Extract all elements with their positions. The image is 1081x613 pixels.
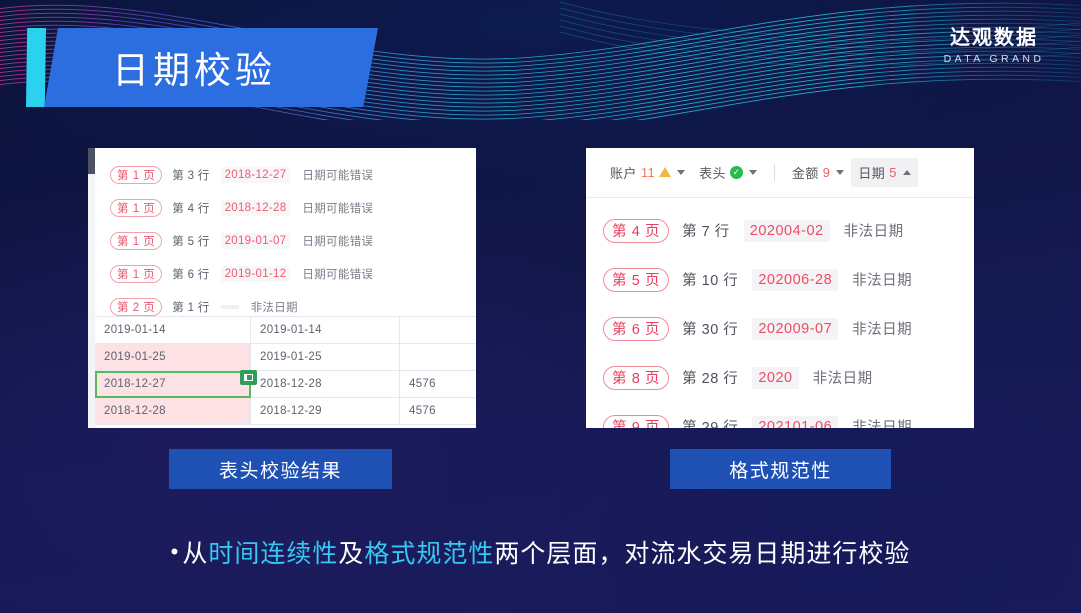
list-item[interactable]: 第 1 页 第 5 行 2019-01-07 日期可能错误 [95,224,476,257]
table-cell-date-b[interactable]: 2018-12-29 [251,398,400,425]
row-line-label: 第 7 行 [682,220,730,241]
tab-account-count: 11 [641,165,655,180]
brand-logo: 达观数据 DATA GRAND [929,27,1059,65]
row-date-value: 202101-06 [752,416,838,429]
page-badge: 第 1 页 [110,232,162,250]
paste-options-icon[interactable] [240,370,257,385]
row-message: 非法日期 [844,220,904,241]
scrollbar-thumb[interactable] [88,148,95,174]
page-title: 日期校验 [112,39,276,93]
row-line-label: 第 6 行 [172,266,209,282]
table-cell-date-a[interactable]: 2019-01-14 [95,317,251,344]
row-date-value: 202004-02 [744,220,830,242]
row-message: 非法日期 [813,367,873,388]
tab-date-label: 日期 [858,163,885,182]
table-row[interactable]: 2018-12-27 2018-12-28 4576 [95,371,476,398]
row-line-label: 第 28 行 [682,367,738,388]
tab-header-label: 表头 [699,163,726,182]
chevron-down-icon[interactable] [677,170,685,175]
table-cell-date-a[interactable]: 2019-01-25 [95,344,251,371]
table-cell-amount[interactable]: 4576 [400,398,477,425]
table-row[interactable]: 2018-12-28 2018-12-29 4576 [95,398,476,425]
table-cell-amount[interactable] [400,344,477,371]
row-date-value: 2019-01-07 [221,233,291,249]
row-date-value: 2019-01-12 [221,266,291,282]
tab-amount[interactable]: 金额 9 [785,158,851,187]
page-badge: 第 1 页 [110,265,162,283]
row-message: 非法日期 [251,299,298,315]
tab-amount-label: 金额 [792,163,819,182]
bullet-highlight-2: 格式规范性 [364,540,494,568]
row-message: 非法日期 [852,318,912,339]
logo-en-text: DATA GRAND [929,53,1059,65]
bullet-seg3: 两个层面，对流水交易日期进行校验 [494,540,910,568]
list-item[interactable]: 第 1 页 第 4 行 2018-12-28 日期可能错误 [95,191,476,224]
row-line-label: 第 30 行 [682,318,738,339]
list-item[interactable]: 第 8 页 第 28 行 2020 非法日期 [586,353,974,402]
bullet-highlight-1: 时间连续性 [208,540,338,568]
caption-right: 格式规范性 [670,449,891,489]
list-item[interactable]: 第 1 页 第 6 行 2019-01-12 日期可能错误 [95,257,476,290]
page-badge: 第 2 页 [110,298,162,316]
table-row[interactable]: 2019-01-14 2019-01-14 [95,317,476,344]
page-badge: 第 9 页 [603,415,669,429]
page-badge: 第 4 页 [603,219,669,243]
row-date-value: 2018-12-28 [221,200,291,216]
row-date-value: 2020 [752,367,798,389]
slide-root: 日期校验 达观数据 DATA GRAND 第 1 页 第 3 行 2018-12… [0,0,1081,613]
left-panel-scrollbar[interactable] [88,148,95,428]
table-cell-date-a-selected[interactable]: 2018-12-27 [95,371,251,398]
tab-date-count: 5 [889,165,897,180]
row-message: 非法日期 [852,416,912,428]
list-item[interactable]: 第 6 页 第 30 行 202009-07 非法日期 [586,304,974,353]
caption-left: 表头校验结果 [169,449,392,489]
row-line-label: 第 4 行 [172,200,209,216]
left-result-list: 第 1 页 第 3 行 2018-12-27 日期可能错误 第 1 页 第 4 … [95,148,476,323]
table-cell-date-b[interactable]: 2019-01-25 [251,344,400,371]
bullet-summary: •从时间连续性及格式规范性两个层面，对流水交易日期进行校验 [0,534,1081,570]
chevron-down-icon[interactable] [749,170,757,175]
tab-amount-count: 9 [823,165,831,180]
right-screenshot-panel: 账户 11 表头 ✓ 金额 9 日期 5 [586,148,974,428]
row-line-label: 第 29 行 [682,416,738,428]
row-message: 日期可能错误 [302,200,373,216]
tab-header[interactable]: 表头 ✓ [692,158,764,187]
row-date-value [221,305,239,309]
row-line-label: 第 1 行 [172,299,209,315]
table-cell-amount[interactable] [400,317,477,344]
warning-triangle-icon [659,167,671,177]
table-cell-date-b[interactable]: 2019-01-14 [251,317,400,344]
row-message: 日期可能错误 [302,233,373,249]
row-message: 非法日期 [852,269,912,290]
row-date-value: 2018-12-27 [221,167,291,183]
row-message: 日期可能错误 [302,266,373,282]
logo-cn-text: 达观数据 [929,27,1059,49]
spreadsheet-table: 2019-01-14 2019-01-14 2019-01-25 2019-01… [95,316,476,425]
row-date-value: 202006-28 [752,269,838,291]
table-cell-date-b[interactable]: 2018-12-28 [251,371,400,398]
page-badge: 第 1 页 [110,199,162,217]
page-badge: 第 6 页 [603,317,669,341]
row-line-label: 第 10 行 [682,269,738,290]
tab-divider [774,164,775,181]
list-item[interactable]: 第 1 页 第 3 行 2018-12-27 日期可能错误 [95,158,476,191]
tab-account[interactable]: 账户 11 [603,158,692,187]
list-item[interactable]: 第 9 页 第 29 行 202101-06 非法日期 [586,402,974,428]
table-cell-date-a[interactable]: 2018-12-28 [95,398,251,425]
left-screenshot-panel: 第 1 页 第 3 行 2018-12-27 日期可能错误 第 1 页 第 4 … [88,148,476,428]
tab-date[interactable]: 日期 5 [851,158,917,187]
page-badge: 第 8 页 [603,366,669,390]
row-date-value: 202009-07 [752,318,838,340]
title-banner: 日期校验 [26,28,378,107]
bullet-seg1: 从 [182,540,208,568]
page-badge: 第 5 页 [603,268,669,292]
table-cell-amount[interactable]: 4576 [400,371,477,398]
chevron-down-icon[interactable] [836,170,844,175]
row-message: 日期可能错误 [302,167,373,183]
list-item[interactable]: 第 4 页 第 7 行 202004-02 非法日期 [586,206,974,255]
title-accent-bar [26,28,46,107]
chevron-up-icon[interactable] [903,170,911,175]
table-cell-date-b-text: 2018-12-28 [260,378,322,390]
check-circle-icon: ✓ [730,166,743,179]
row-line-label: 第 3 行 [172,167,209,183]
right-result-list: 第 4 页 第 7 行 202004-02 非法日期 第 5 页 第 10 行 … [586,198,974,428]
list-item[interactable]: 第 5 页 第 10 行 202006-28 非法日期 [586,255,974,304]
bullet-dot: • [171,539,180,564]
row-line-label: 第 5 行 [172,233,209,249]
category-tab-bar: 账户 11 表头 ✓ 金额 9 日期 5 [586,148,974,198]
tab-account-label: 账户 [610,163,637,182]
table-row[interactable]: 2019-01-25 2019-01-25 [95,344,476,371]
page-badge: 第 1 页 [110,166,162,184]
bullet-seg2: 及 [338,540,364,568]
